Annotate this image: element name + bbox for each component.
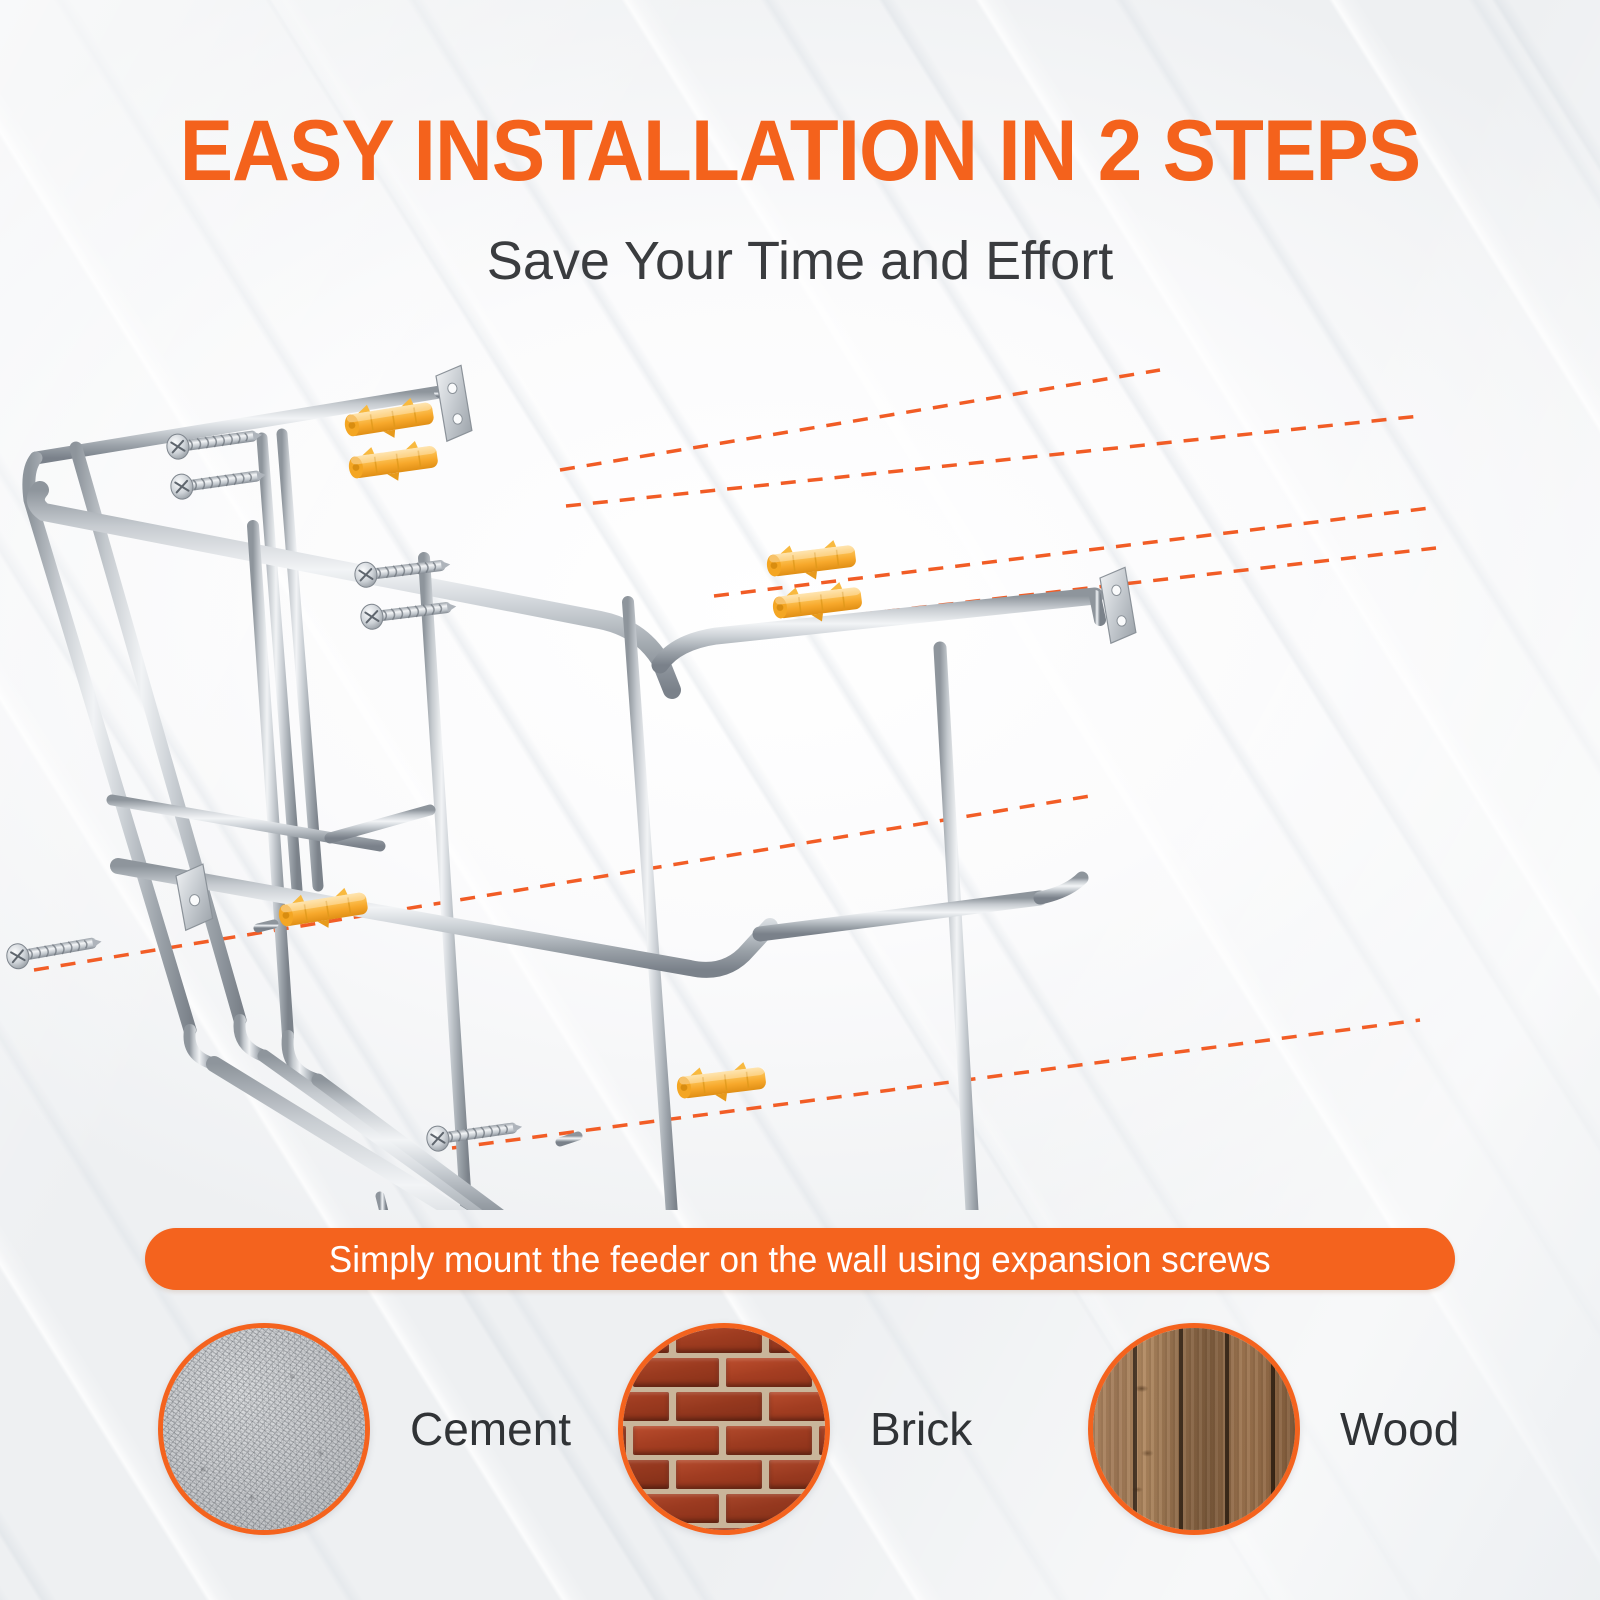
product-illustration [0,330,1600,1210]
cement-texture-swatch [158,1323,370,1535]
supported-materials-list: Cement Brick Wood [0,1318,1600,1540]
wood-texture-swatch [1088,1323,1300,1535]
infographic-canvas: EASY INSTALLATION IN 2 STEPS Save Your T… [0,0,1600,1600]
hay-feeder-frame [29,392,1100,1210]
material-label-brick: Brick [870,1406,972,1452]
material-item-wood: Wood [1088,1318,1459,1540]
brick-texture-swatch [618,1323,830,1535]
material-item-cement: Cement [158,1318,571,1540]
instruction-banner-text: Simply mount the feeder on the wall usin… [329,1241,1271,1278]
instruction-banner: Simply mount the feeder on the wall usin… [145,1228,1455,1290]
page-title: EASY INSTALLATION IN 2 STEPS [56,108,1544,194]
material-item-brick: Brick [618,1318,972,1540]
page-subtitle: Save Your Time and Effort [0,230,1600,292]
material-label-cement: Cement [410,1406,571,1452]
expansion-anchors [276,395,863,1107]
material-label-wood: Wood [1340,1406,1459,1452]
